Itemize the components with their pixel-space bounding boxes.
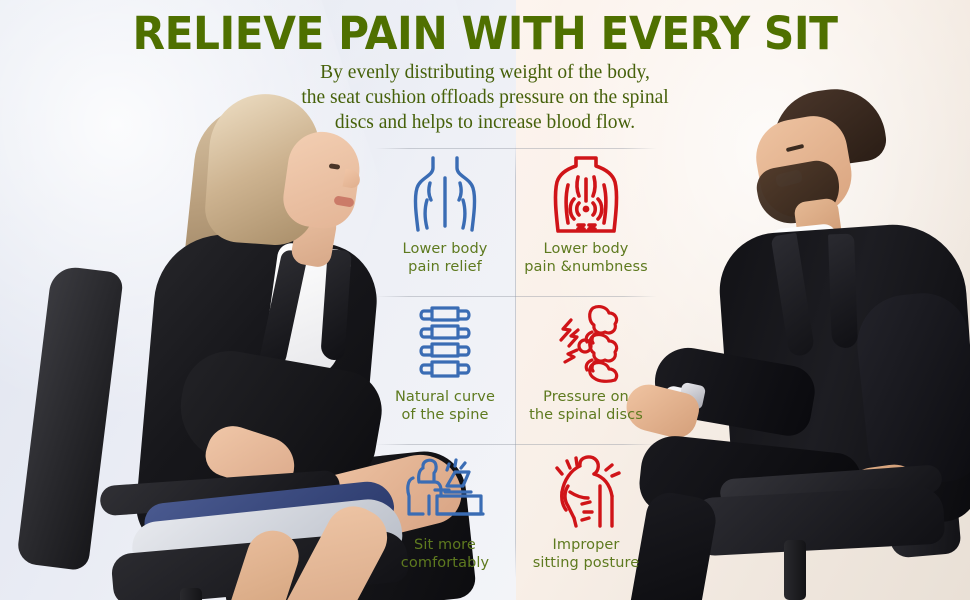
woman-sitting-comfortably-photo [0,60,394,600]
man-with-back-pain-photo [634,88,970,600]
benefit-label: Lower body pain relief [403,240,488,276]
chair-column-right [784,540,806,600]
benefit-label: Pressure on the spinal discs [529,388,643,424]
healthy-vertebrae-stack-icon [414,300,476,388]
benefit-label: Sit more comfortably [401,536,489,572]
chair-column-left [180,588,202,600]
benefit-cell-pain-numbness: Lower body pain &numbness [516,148,656,296]
chair-backrest-left [16,265,124,572]
back-pain-numbness-icon [548,152,624,240]
benefit-label: Natural curve of the spine [395,388,495,424]
benefit-cell-healthy-back: Lower body pain relief [375,148,515,296]
subtitle-paragraph: By evenly distributing weight of the bod… [235,60,735,135]
compressed-spinal-disc-icon [547,300,625,388]
benefit-cell-natural-curve: Natural curve of the spine [375,296,515,444]
man-lapel-right [828,234,858,349]
subtitle-line-1: By evenly distributing weight of the bod… [235,60,735,85]
benefit-cell-improper-posture: Improper sitting posture [516,444,656,592]
benefit-label: Lower body pain &numbness [524,240,648,276]
product-benefit-banner: RELIEVE PAIN WITH EVERY SIT By evenly di… [0,0,970,600]
man-arm-reaching-back [852,289,970,490]
healthy-back-outline-icon [409,152,481,240]
benefit-cell-disc-pressure: Pressure on the spinal discs [516,296,656,444]
benefits-comparison-grid: Lower body pain relief [375,148,657,578]
subtitle-line-3: discs and helps to increase blood flow. [235,110,735,135]
benefit-cell-sit-comfortably: Sit more comfortably [375,444,515,592]
person-at-desk-comfortable-icon [401,448,489,536]
page-title: RELIEVE PAIN WITH EVERY SIT [29,8,941,60]
hunched-back-pain-posture-icon [546,448,626,536]
subtitle-line-2: the seat cushion offloads pressure on th… [235,85,735,110]
benefit-label: Improper sitting posture [533,536,640,572]
